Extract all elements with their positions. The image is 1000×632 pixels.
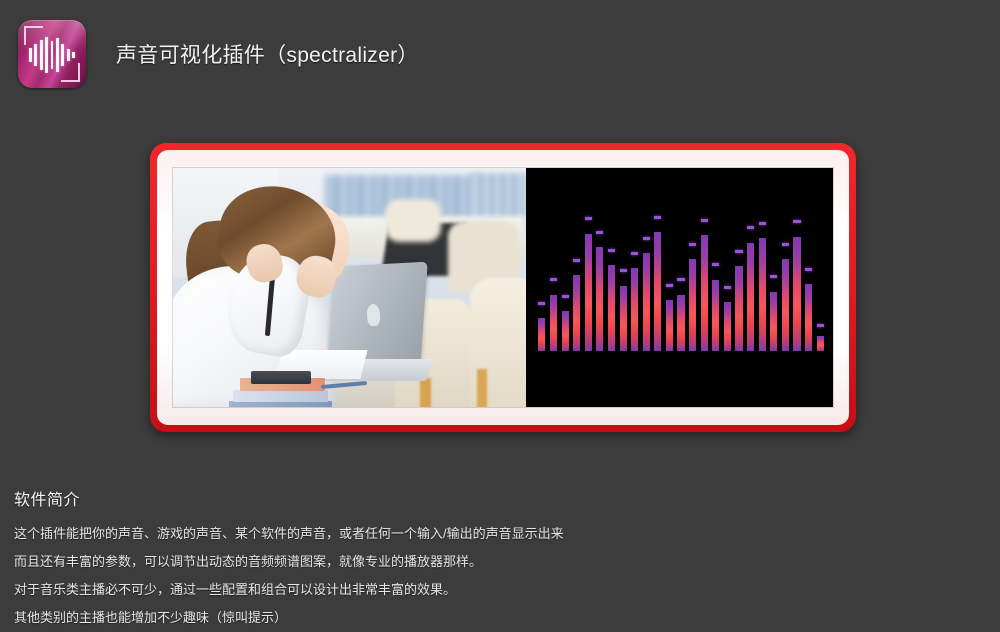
- spectrum-bar-slot: [747, 203, 754, 351]
- spectrum-peak-cap: [631, 252, 638, 255]
- spectrum-bar-slot: [562, 203, 569, 351]
- spectrum-bar: [770, 292, 777, 351]
- icon-bar-3: [45, 37, 48, 73]
- spectrum-bar: [550, 295, 557, 351]
- spectrum-bar-slot: [724, 203, 731, 351]
- audio-spectrum-visualizer: [526, 168, 833, 407]
- page-header: 声音可视化插件（spectralizer）: [0, 0, 1000, 108]
- spectrum-peak-cap: [782, 243, 789, 246]
- spectrum-bar-slot: [782, 203, 789, 351]
- spectrum-bar: [724, 302, 731, 351]
- spectrum-peak-cap: [550, 278, 557, 281]
- spectrum-bar-slot: [538, 203, 545, 351]
- spectrum-bar-slot: [666, 203, 673, 351]
- spectrum-bar: [805, 284, 812, 351]
- description-line: 其他类别的主播也能增加不少趣味（惊叫提示）: [14, 604, 974, 632]
- spectrum-peak-cap: [747, 226, 754, 229]
- spectrum-bar-slot: [620, 203, 627, 351]
- showcase-media: [173, 168, 833, 407]
- spectrum-peak-cap: [689, 243, 696, 246]
- spectrum-bar-slot: [585, 203, 592, 351]
- showcase-frame: [150, 143, 856, 432]
- spectrum-bar: [596, 247, 603, 351]
- spectrum-bar: [620, 286, 627, 351]
- description-line: 而且还有丰富的参数，可以调节出动态的音频频谱图案，就像专业的播放器那样。: [14, 548, 974, 576]
- spectrum-peak-cap: [666, 284, 673, 287]
- spectrum-bar-slot: [608, 203, 615, 351]
- spectrum-bar-group: [538, 203, 823, 351]
- spectrum-bar: [701, 235, 708, 351]
- description-line: 对于音乐类主播必不可少，通过一些配置和组合可以设计出非常丰富的效果。: [14, 576, 974, 604]
- spectrum-bar-slot: [817, 203, 824, 351]
- spectrum-bar-slot: [712, 203, 719, 351]
- spectrum-bar: [585, 234, 592, 351]
- spectrum-bar-slot: [596, 203, 603, 351]
- spectrum-peak-cap: [805, 268, 812, 271]
- description-line: 这个插件能把你的声音、游戏的声音、某个软件的声音，或者任何一个输入/输出的声音显…: [14, 520, 974, 548]
- spectrum-bar: [689, 259, 696, 351]
- spectrum-bar: [712, 280, 719, 351]
- spectrum-peak-cap: [562, 295, 569, 298]
- spectrum-peak-cap: [701, 219, 708, 222]
- woman-studying-with-headphones-photo: [173, 168, 526, 407]
- spectrum-bar: [608, 265, 615, 351]
- spectrum-bar: [735, 266, 742, 350]
- spectrum-bar: [677, 295, 684, 351]
- spectrum-peak-cap: [538, 302, 545, 305]
- spectrum-bar-slot: [677, 203, 684, 351]
- spectrum-bar: [817, 336, 824, 351]
- spectrum-peak-cap: [793, 220, 800, 223]
- spectrum-peak-cap: [735, 250, 742, 253]
- icon-bar-7: [67, 49, 70, 61]
- spectrum-peak-cap: [585, 217, 592, 220]
- spectrum-bar-slot: [573, 203, 580, 351]
- spectrum-bar: [759, 238, 766, 351]
- spectrum-peak-cap: [712, 263, 719, 266]
- spectrum-peak-cap: [724, 286, 731, 289]
- icon-bar-8: [72, 52, 75, 58]
- spectrum-bar: [538, 318, 545, 351]
- page-title: 声音可视化插件（spectralizer）: [116, 39, 419, 69]
- icon-bar-1: [34, 44, 37, 66]
- spectrum-peak-cap: [608, 249, 615, 252]
- spectrum-peak-cap: [596, 231, 603, 234]
- spectrum-bar: [666, 300, 673, 350]
- spectrum-bar: [654, 232, 661, 351]
- spectrum-bar-slot: [689, 203, 696, 351]
- spectrum-bar-slot: [735, 203, 742, 351]
- bracket-bottom-right-icon: [61, 63, 80, 82]
- spectralizer-app-icon: [18, 20, 86, 88]
- spectrum-peak-cap: [620, 269, 627, 272]
- spectrum-bar: [631, 268, 638, 351]
- spectrum-bar-slot: [654, 203, 661, 351]
- showcase-frame-inner: [157, 150, 849, 425]
- spectrum-bar-slot: [701, 203, 708, 351]
- spectrum-bar: [793, 237, 800, 351]
- spectrum-bar-slot: [793, 203, 800, 351]
- spectrum-peak-cap: [759, 222, 766, 225]
- spectrum-bar: [573, 275, 580, 351]
- spectrum-bar: [747, 243, 754, 351]
- icon-bar-4: [51, 41, 54, 69]
- spectrum-peak-cap: [643, 237, 650, 240]
- bracket-top-left-icon: [24, 26, 43, 45]
- spectrum-bar-slot: [631, 203, 638, 351]
- spectrum-bar: [562, 311, 569, 351]
- spectrum-peak-cap: [654, 216, 661, 219]
- smartphone-on-desk: [251, 371, 311, 384]
- laptop-logo: [367, 304, 381, 326]
- spectrum-bar-slot: [550, 203, 557, 351]
- spectrum-bar: [643, 253, 650, 351]
- spectrum-peak-cap: [770, 275, 777, 278]
- description-heading: 软件简介: [14, 486, 974, 510]
- software-description: 软件简介 这个插件能把你的声音、游戏的声音、某个软件的声音，或者任何一个输入/输…: [14, 486, 974, 632]
- spectrum-peak-cap: [677, 278, 684, 281]
- spectrum-bar-slot: [770, 203, 777, 351]
- spectrum-bar-slot: [643, 203, 650, 351]
- icon-bar-0: [29, 48, 32, 62]
- icon-bar-5: [56, 38, 59, 72]
- spectrum-bar-slot: [759, 203, 766, 351]
- spectrum-peak-cap: [817, 324, 824, 327]
- spectrum-bar: [782, 259, 789, 351]
- spectrum-peak-cap: [573, 259, 580, 262]
- spectrum-bar-slot: [805, 203, 812, 351]
